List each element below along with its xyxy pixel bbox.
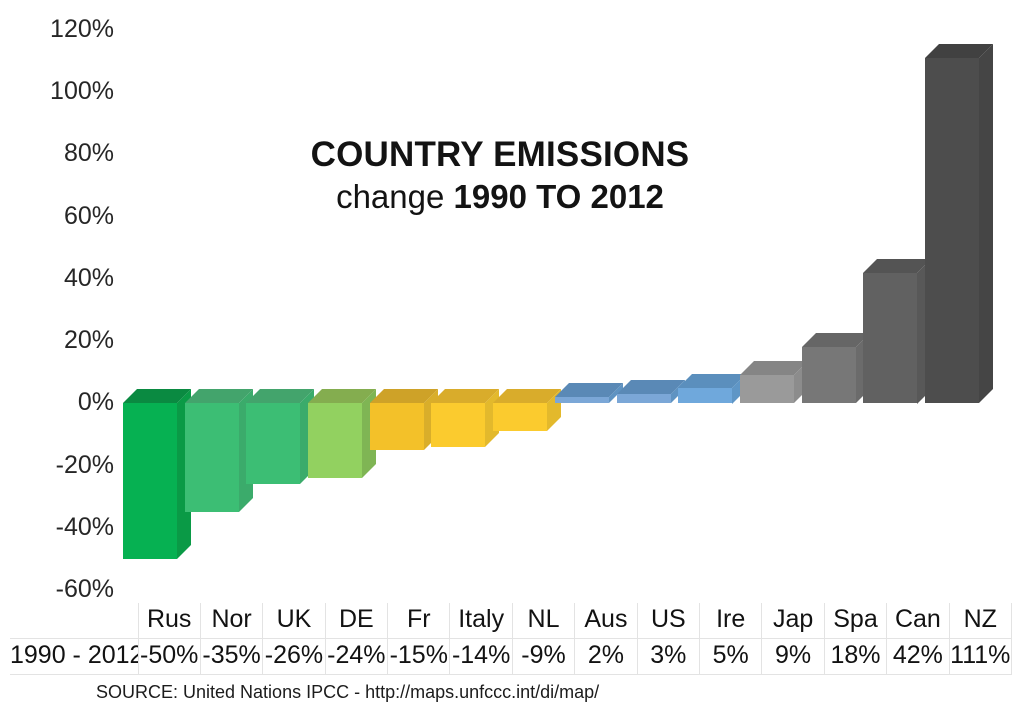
bar-front-face	[246, 403, 300, 484]
bar-slot-nz	[922, 0, 984, 600]
y-axis-tick-label: -40%	[8, 515, 114, 540]
table-header-cell: Rus	[138, 603, 200, 639]
table-header-corner	[10, 603, 138, 639]
bar-ire[interactable]	[678, 388, 732, 404]
table-value-cell: 2%	[575, 639, 637, 675]
bar-front-face	[555, 397, 609, 403]
bar-de[interactable]	[308, 403, 362, 478]
bar-can[interactable]	[863, 273, 917, 404]
source-note: SOURCE: United Nations IPCC - http://map…	[96, 682, 599, 703]
table-header-cell: Ire	[700, 603, 762, 639]
bar-aus[interactable]	[555, 397, 609, 403]
table-header-cell: NL	[512, 603, 574, 639]
y-axis-tick-label: 60%	[8, 204, 114, 229]
bar-side-face	[979, 44, 993, 403]
table-header-cell: Fr	[388, 603, 450, 639]
table-header-cell: Nor	[200, 603, 262, 639]
emissions-bar-chart: 120%100%80%60%40%20%0%-20%-40%-60% COUNT…	[0, 0, 1024, 709]
bar-nz[interactable]	[925, 58, 979, 403]
bar-front-face	[925, 58, 979, 403]
bar-front-face	[185, 403, 239, 512]
bar-jap[interactable]	[740, 375, 794, 403]
y-axis: 120%100%80%60%40%20%0%-20%-40%-60%	[8, 0, 120, 620]
table-value-cell: 111%	[949, 639, 1011, 675]
table-value-cell: 18%	[824, 639, 886, 675]
table-value-cell: -50%	[138, 639, 200, 675]
table-row-headers: RusNorUKDEFrItalyNLAusUSIreJapSpaCanNZ	[10, 603, 1012, 639]
bar-front-face	[617, 394, 671, 403]
table-value-cell: -15%	[388, 639, 450, 675]
bar-slot-spa	[799, 0, 861, 600]
table-value-cell: -14%	[450, 639, 512, 675]
table-value-cell: 5%	[700, 639, 762, 675]
bar-slot-nor	[182, 0, 244, 600]
bar-slot-can	[861, 0, 923, 600]
bar-front-face	[123, 403, 177, 559]
table-header-cell: Spa	[824, 603, 886, 639]
table-row-values: 1990 - 2012-50%-35%-26%-24%-15%-14%-9%2%…	[10, 639, 1012, 675]
table-value-cell: 42%	[887, 639, 949, 675]
data-table-body: RusNorUKDEFrItalyNLAusUSIreJapSpaCanNZ 1…	[10, 603, 1012, 675]
bar-slot-uk	[243, 0, 305, 600]
table-header-cell: Can	[887, 603, 949, 639]
plot-area	[120, 0, 984, 600]
y-axis-tick-label: 0%	[8, 390, 114, 415]
table-value-cell: 3%	[637, 639, 699, 675]
bar-front-face	[370, 403, 424, 450]
bar-slot-aus	[552, 0, 614, 600]
bar-slot-italy	[429, 0, 491, 600]
y-axis-tick-label: 40%	[8, 266, 114, 291]
bar-slot-rus	[120, 0, 182, 600]
bar-slot-us	[614, 0, 676, 600]
table-row-label: 1990 - 2012	[10, 639, 138, 675]
table-value-cell: -35%	[200, 639, 262, 675]
bar-slot-jap	[737, 0, 799, 600]
bar-slot-ire	[675, 0, 737, 600]
table-header-cell: UK	[263, 603, 325, 639]
bar-nor[interactable]	[185, 403, 239, 512]
bar-front-face	[740, 375, 794, 403]
bar-slot-de	[305, 0, 367, 600]
bar-front-face	[493, 403, 547, 431]
bar-front-face	[308, 403, 362, 478]
table-value-cell: -24%	[325, 639, 387, 675]
table-value-cell: -26%	[263, 639, 325, 675]
bar-front-face	[863, 273, 917, 404]
y-axis-tick-label: 80%	[8, 141, 114, 166]
bar-spa[interactable]	[802, 347, 856, 403]
table-header-cell: Jap	[762, 603, 824, 639]
bar-front-face	[431, 403, 485, 447]
bar-front-face	[678, 388, 732, 404]
y-axis-tick-label: 20%	[8, 328, 114, 353]
y-axis-tick-label: -20%	[8, 453, 114, 478]
table-header-cell: Aus	[575, 603, 637, 639]
table-header-cell: US	[637, 603, 699, 639]
bar-us[interactable]	[617, 394, 671, 403]
bar-fr[interactable]	[370, 403, 424, 450]
y-axis-tick-label: -60%	[8, 577, 114, 602]
bar-uk[interactable]	[246, 403, 300, 484]
bar-slot-nl	[490, 0, 552, 600]
bar-slot-fr	[367, 0, 429, 600]
y-axis-tick-label: 120%	[8, 17, 114, 42]
table-header-cell: NZ	[949, 603, 1011, 639]
bar-front-face	[802, 347, 856, 403]
table-header-cell: Italy	[450, 603, 512, 639]
table-value-cell: 9%	[762, 639, 824, 675]
table-header-cell: DE	[325, 603, 387, 639]
table-value-cell: -9%	[512, 639, 574, 675]
bar-nl[interactable]	[493, 403, 547, 431]
data-table: RusNorUKDEFrItalyNLAusUSIreJapSpaCanNZ 1…	[10, 603, 1012, 675]
bar-rus[interactable]	[123, 403, 177, 559]
bar-italy[interactable]	[431, 403, 485, 447]
y-axis-tick-label: 100%	[8, 79, 114, 104]
